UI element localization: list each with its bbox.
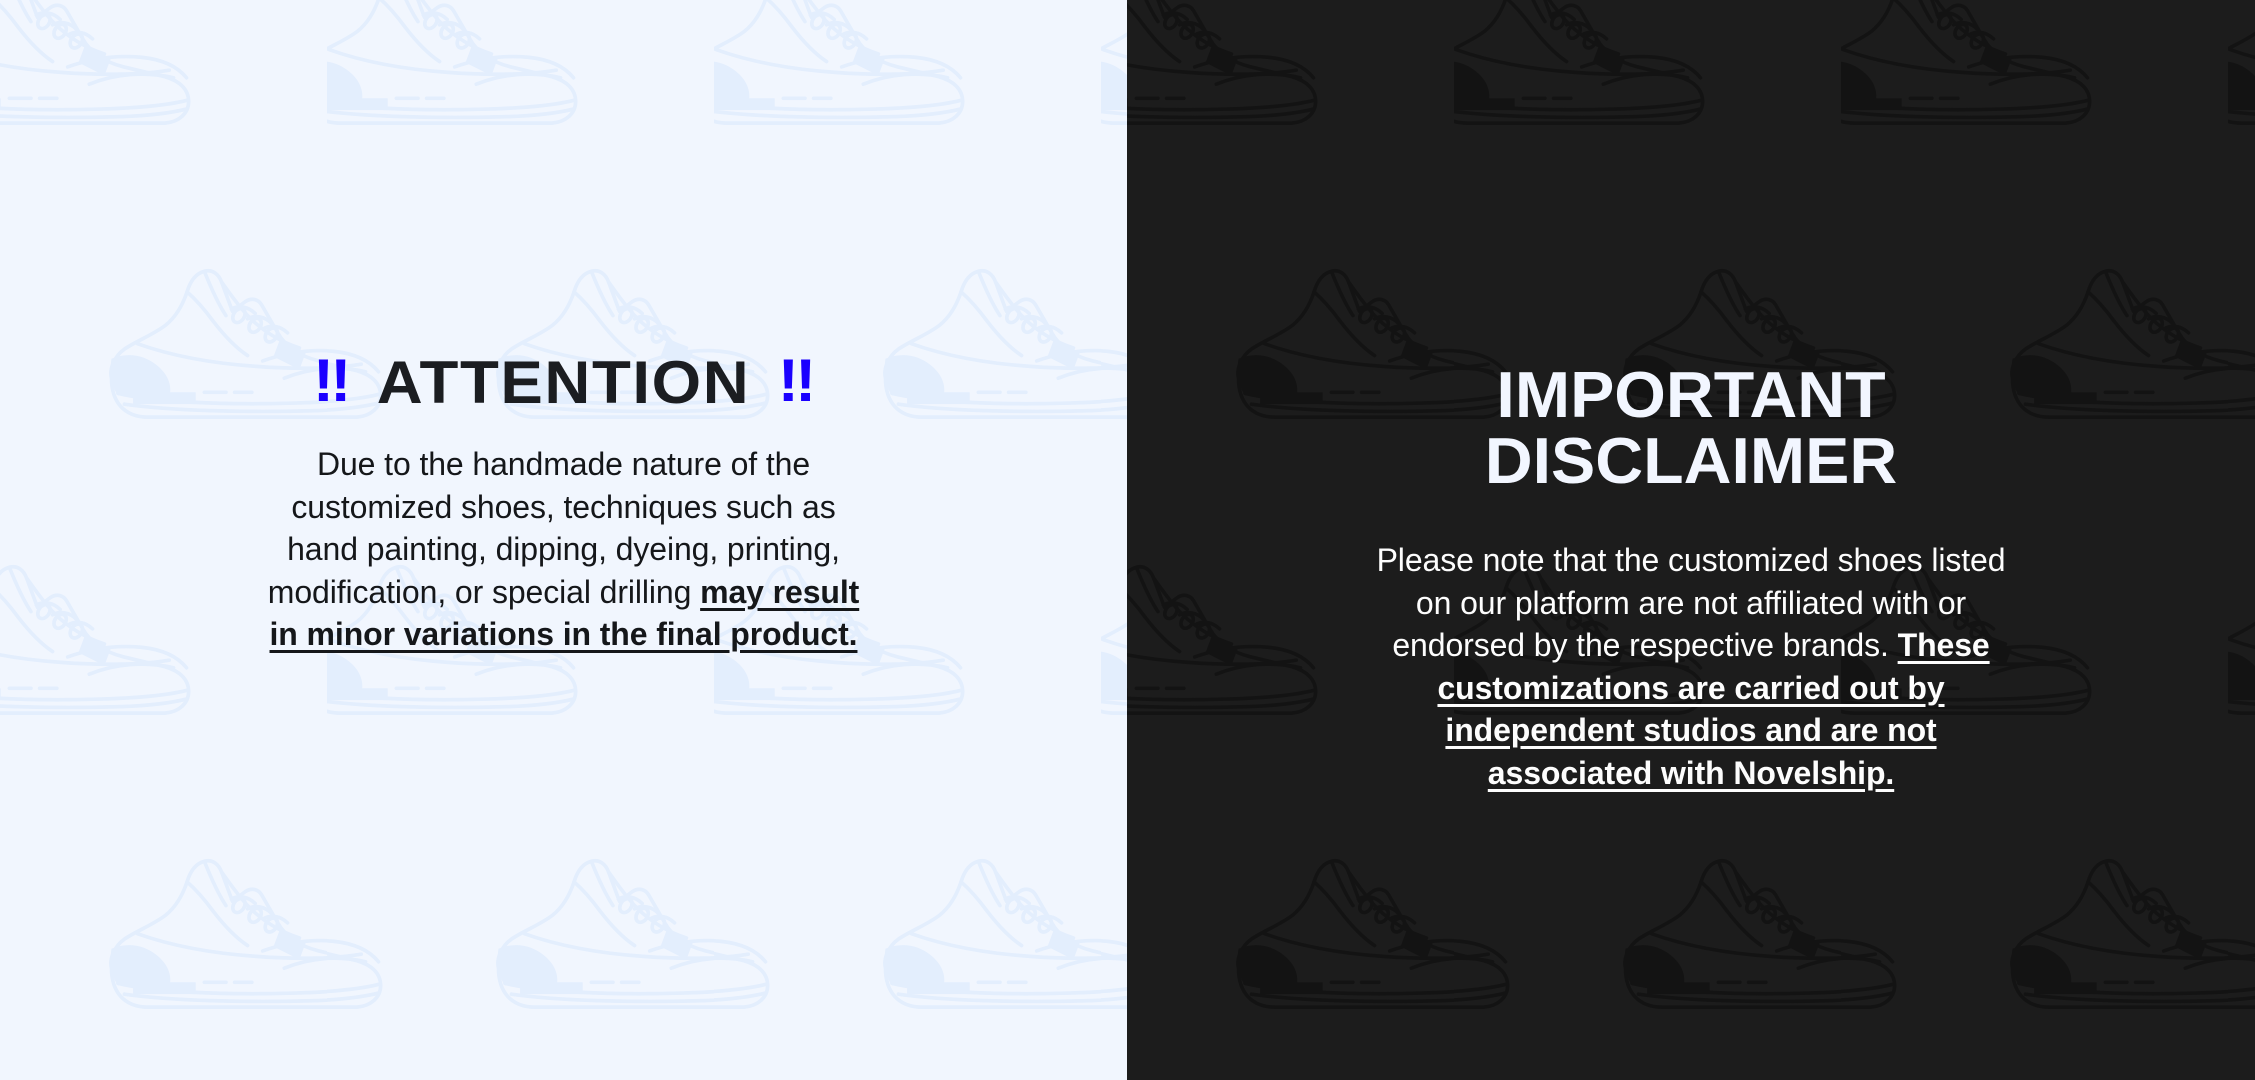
disclaimer-headline-line-1: IMPORTANT (1261, 362, 2122, 429)
disclaimer-headline-line-2: DISCLAIMER (1261, 428, 2122, 495)
attention-panel: ‼ ATTENTION ‼ Due to the handmade nature… (0, 0, 1127, 1080)
double-exclamation-icon-right: ‼ (778, 351, 814, 411)
disclaimer-headline: IMPORTANT DISCLAIMER (1261, 362, 2122, 496)
disclaimer-content: IMPORTANT DISCLAIMER Please note that th… (1127, 0, 2255, 794)
double-exclamation-icon-left: ‼ (313, 351, 349, 411)
attention-headline: ‼ ATTENTION ‼ (125, 352, 1002, 413)
disclaimer-banner: ‼ ATTENTION ‼ Due to the handmade nature… (0, 0, 2255, 1080)
attention-content: ‼ ATTENTION ‼ Due to the handmade nature… (0, 0, 1127, 656)
disclaimer-body: Please note that the customized shoes li… (1371, 539, 2011, 794)
disclaimer-panel: IMPORTANT DISCLAIMER Please note that th… (1127, 0, 2255, 1080)
attention-headline-text: ATTENTION (377, 352, 751, 413)
attention-body: Due to the handmade nature of the custom… (254, 443, 874, 656)
